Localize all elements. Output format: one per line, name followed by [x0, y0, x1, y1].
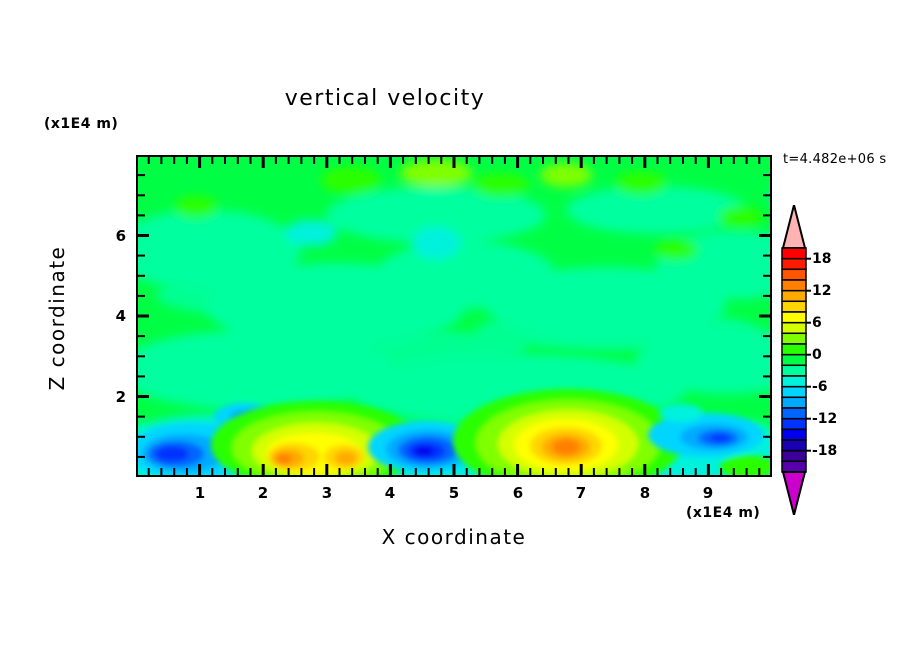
colorbar-tick-label: 0	[812, 347, 822, 363]
x-tick-label: 6	[506, 484, 530, 502]
x-axis-title: X coordinate	[136, 525, 772, 549]
colorbar-tick-label: 18	[812, 251, 831, 267]
x-tick-label: 5	[442, 484, 466, 502]
y-tick-label: 2	[100, 388, 126, 406]
page-title: vertical velocity	[0, 86, 770, 111]
x-tick-label: 9	[696, 484, 720, 502]
colorbar-over-cap	[783, 205, 805, 248]
colorbar-under-cap	[783, 472, 805, 515]
colorbar-tick-label: -6	[812, 379, 828, 395]
x-tick-label: 4	[378, 484, 402, 502]
colorbar-tick-label: -18	[812, 443, 837, 459]
x-axis-unit-label: (x1E4 m)	[686, 505, 760, 521]
y-tick-label: 4	[100, 307, 126, 325]
colorbar-tick-label: 6	[812, 315, 822, 331]
colorbar-bands	[782, 248, 806, 472]
x-tick-label: 3	[315, 484, 339, 502]
contour-plot-area	[136, 155, 772, 477]
x-tick-label: 1	[188, 484, 212, 502]
figure-canvas: vertical velocity (x1E4 m) (x1E4 m) t=4.…	[0, 0, 904, 654]
colorbar-tick-label: 12	[812, 283, 831, 299]
y-tick-label: 6	[100, 227, 126, 245]
x-tick-label: 8	[633, 484, 657, 502]
colorbar-tick-label: -12	[812, 411, 837, 427]
time-annotation: t=4.482e+06 s	[783, 152, 886, 167]
x-tick-label: 7	[569, 484, 593, 502]
x-tick-label: 2	[251, 484, 275, 502]
y-axis-unit-label: (x1E4 m)	[44, 116, 118, 132]
colorbar	[777, 205, 811, 515]
y-axis-title: Z coordinate	[45, 238, 69, 398]
